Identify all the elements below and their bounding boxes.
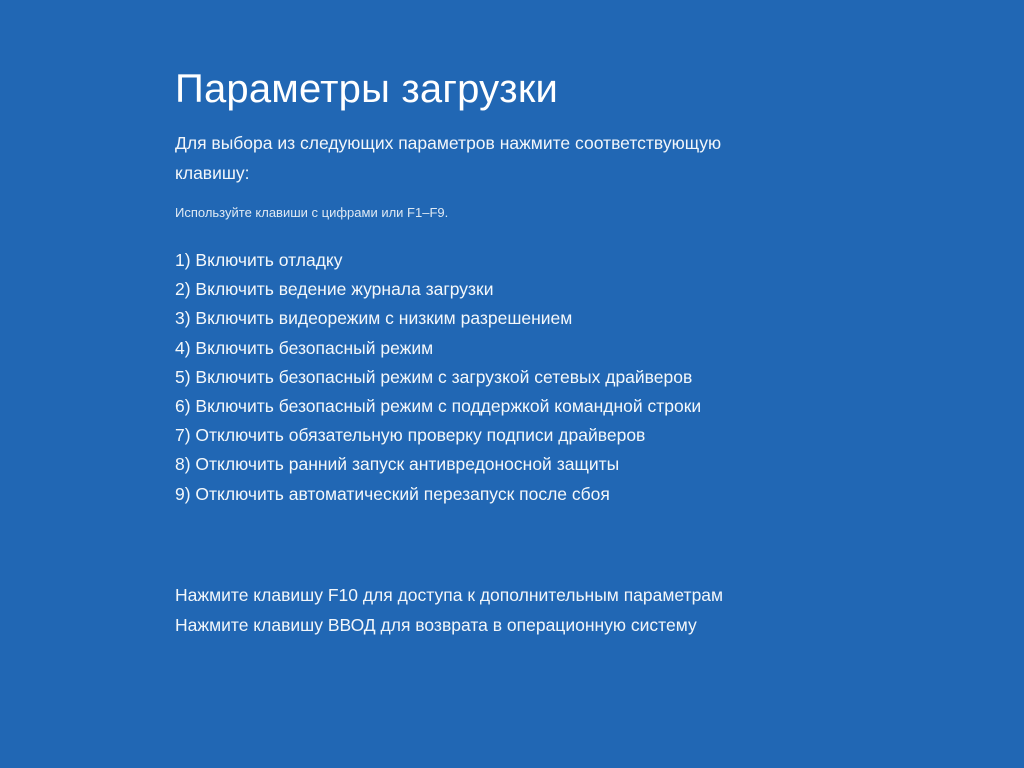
boot-option-2[interactable]: 2) Включить ведение журнала загрузки [175, 275, 795, 304]
startup-settings-screen: Параметры загрузки Для выбора из следующ… [0, 0, 1024, 768]
intro-instruction-text: Для выбора из следующих параметров нажми… [175, 128, 780, 188]
page-title: Параметры загрузки [175, 65, 558, 113]
keyboard-hint-text: Используйте клавиши с цифрами или F1–F9. [175, 204, 448, 222]
boot-option-7[interactable]: 7) Отключить обязательную проверку подпи… [175, 421, 795, 450]
boot-option-6[interactable]: 6) Включить безопасный режим с поддержко… [175, 392, 795, 421]
advanced-options-hint[interactable]: Нажмите клавишу F10 для доступа к дополн… [175, 580, 795, 610]
return-to-os-hint[interactable]: Нажмите клавишу ВВОД для возврата в опер… [175, 610, 795, 640]
boot-option-5[interactable]: 5) Включить безопасный режим с загрузкой… [175, 363, 795, 392]
boot-option-4[interactable]: 4) Включить безопасный режим [175, 334, 795, 363]
boot-option-1[interactable]: 1) Включить отладку [175, 246, 795, 275]
boot-option-8[interactable]: 8) Отключить ранний запуск антивредоносн… [175, 450, 795, 479]
boot-options-list: 1) Включить отладку 2) Включить ведение … [175, 246, 795, 509]
boot-option-9[interactable]: 9) Отключить автоматический перезапуск п… [175, 480, 795, 509]
footer-instructions: Нажмите клавишу F10 для доступа к дополн… [175, 580, 795, 640]
boot-option-3[interactable]: 3) Включить видеорежим с низким разрешен… [175, 304, 795, 333]
